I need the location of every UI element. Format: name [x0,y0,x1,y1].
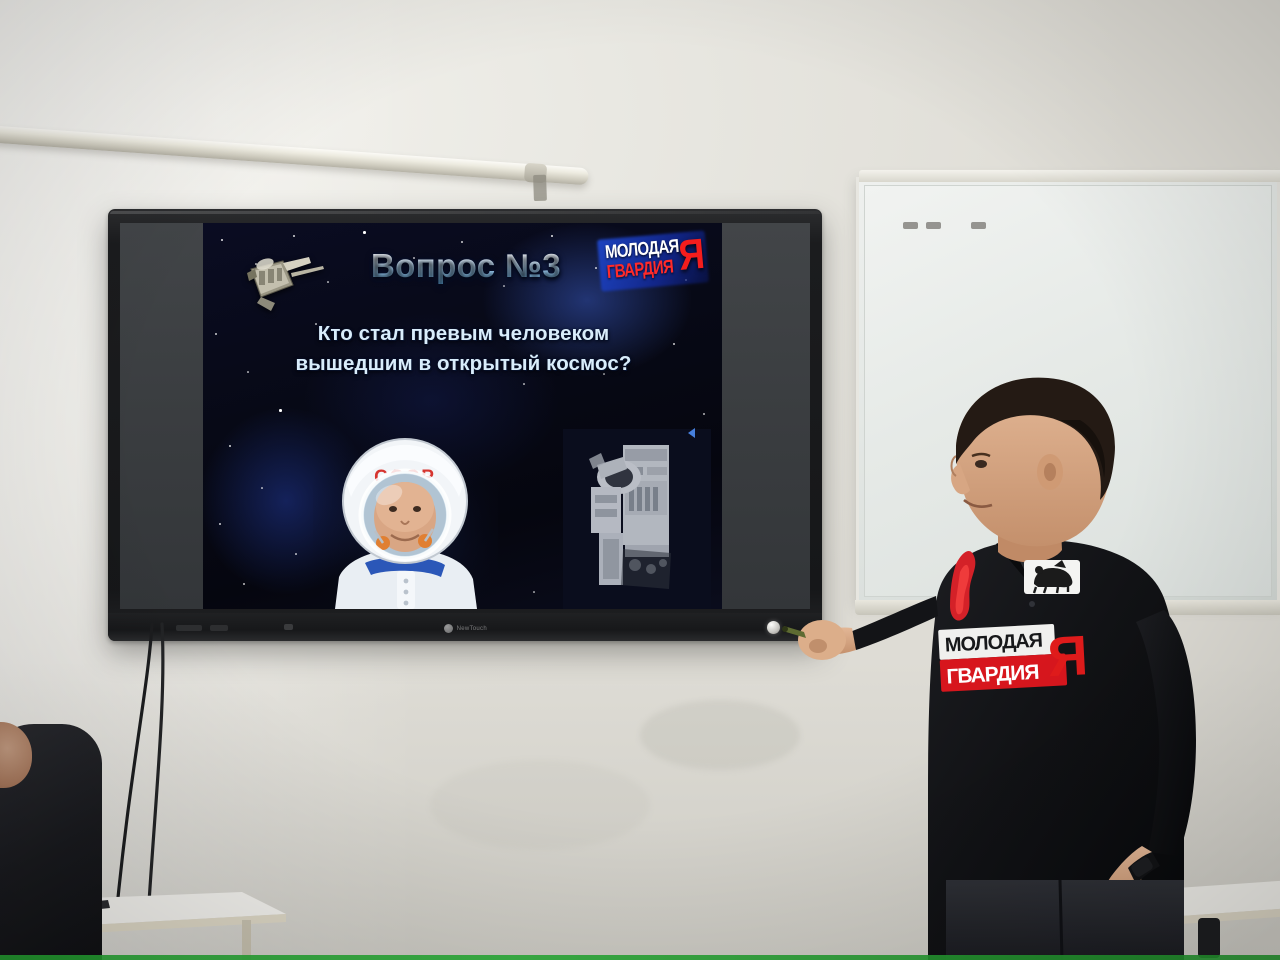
bezel-highlight [110,211,820,214]
slide-title: Вопрос №3 [336,247,596,285]
brand-logo-icon [444,624,453,633]
mg-logo-slide: МОЛОДАЯ ГВАРДИЯ Я [597,230,709,291]
brand-name: NewTouch [457,626,487,632]
question-line-1: Кто стал превым человеком [231,319,696,349]
spacewalk-eva-photo [563,429,711,609]
shirt-logo-line2: ГВАРДИЯ [946,661,1039,689]
presenter-standing: МОЛОДАЯ ГВАРДИЯ Я [760,360,1280,960]
whiteboard-frame-top [859,170,1280,182]
classroom-photo-scene: МОЛОДАЯ ГВАРДИЯ Я Вопрос №3 Кто стал пре… [0,0,1280,960]
ir-receiver [284,624,293,630]
whiteboard-magnet[interactable] [903,222,918,229]
display-power-cables [100,620,280,920]
satellite-illustration [231,247,331,319]
cosmonaut-portrait-photo: СССР [313,435,498,609]
presentation-slide: МОЛОДАЯ ГВАРДИЯ Я Вопрос №3 Кто стал пре… [203,223,722,609]
display-brand: NewTouch [444,624,487,633]
whiteboard-magnet[interactable] [971,222,986,229]
mg-logo-big-letter: Я [677,229,707,281]
shirt-mg-logo: МОЛОДАЯ ГВАРДИЯ Я [938,622,1089,694]
video-edge-artifact [0,955,1280,960]
presenter-trousers [946,880,1184,960]
wall-scuff [430,760,650,850]
interactive-display[interactable]: МОЛОДАЯ ГВАРДИЯ Я Вопрос №3 Кто стал пре… [108,209,822,641]
letterbox-pillar-left [120,223,203,609]
question-line-2: вышедшим в открытый космос? [231,349,696,379]
whiteboard-magnet[interactable] [926,222,941,229]
slide-question: Кто стал превым человеком вышедшим в отк… [231,319,696,379]
bear-emblem-patch [1024,560,1080,594]
display-screen[interactable]: МОЛОДАЯ ГВАРДИЯ Я Вопрос №3 Кто стал пре… [120,223,810,609]
mouse-cursor-arrow [688,428,695,438]
pipe-bracket [533,175,547,201]
shirt-logo-big-letter: Я [1046,623,1089,688]
